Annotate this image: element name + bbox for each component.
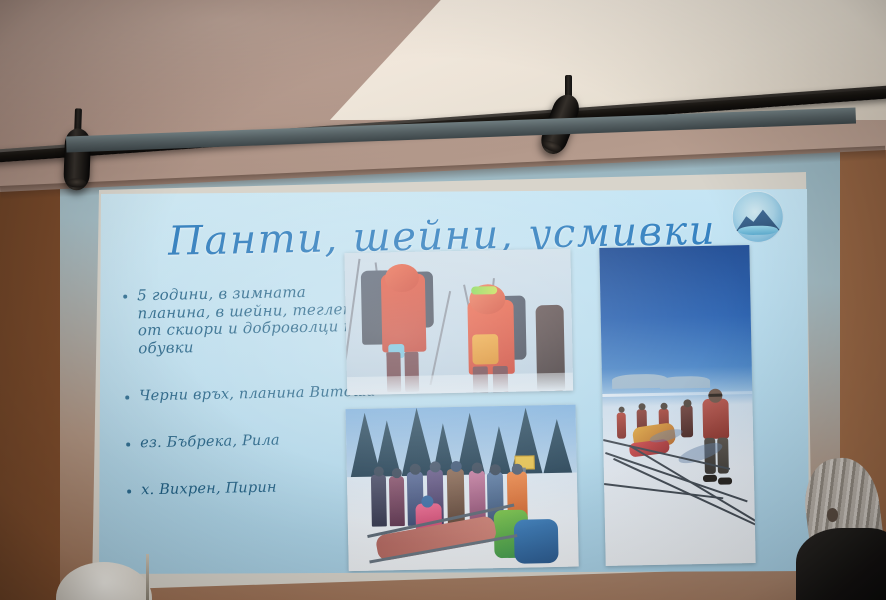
- logo-ring: [731, 190, 784, 243]
- presentation-slide: Панти, шейни, усмивки 5 години, в зимнат…: [99, 189, 809, 574]
- photo-group: [346, 405, 579, 572]
- slide-bullet-item: Черни връх, планина Витоша: [121, 383, 376, 405]
- audience-shoulder: [796, 528, 886, 600]
- spotlight-lens-icon: [66, 178, 86, 188]
- organisation-logo: [731, 190, 784, 243]
- audience-member: [774, 450, 886, 600]
- thin-rod: [146, 554, 149, 600]
- slide-bullet-item: х. Вихрен, Пирин: [123, 478, 378, 500]
- room-scene: Панти, шейни, усмивки 5 години, в зимнат…: [0, 0, 886, 600]
- photo-snow: [599, 245, 755, 566]
- slide-bullet-item: 5 години, в зимната планина, в шейни, те…: [119, 283, 375, 359]
- projection-screen: Панти, шейни, усмивки 5 години, в зимнат…: [90, 172, 815, 592]
- audience-ear: [827, 508, 838, 522]
- photo-climbers: [344, 249, 573, 396]
- photo-snow-horizon: [602, 391, 752, 397]
- slide-bullet-item: ез. Бъбрека, Рила: [122, 430, 377, 452]
- slide-bullet-list: 5 години, в зимната планина, в шейни, те…: [119, 283, 379, 520]
